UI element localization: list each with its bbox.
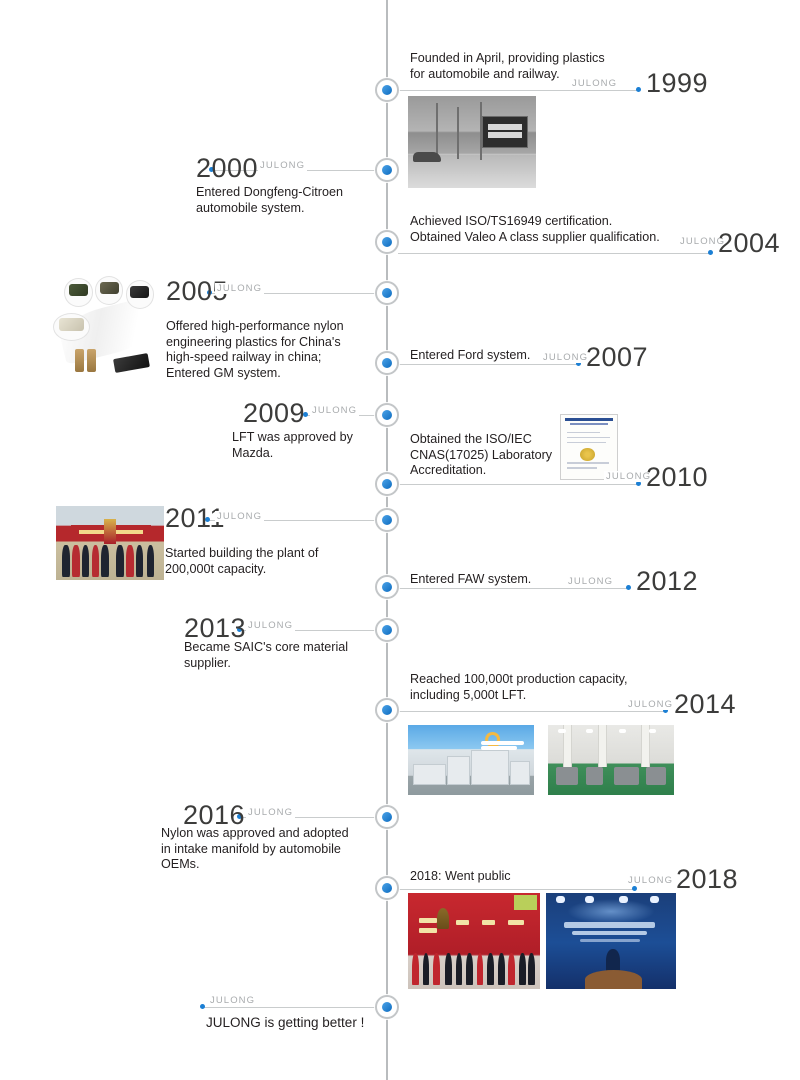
timeline-year-2007: 2007 [586,342,648,373]
timeline-node-2013[interactable] [375,618,399,642]
timeline-watermark-2018: JULONG [626,875,675,886]
photo-factory-campus [408,725,534,795]
timeline-year-2000: 2000 [196,153,258,184]
timeline-node-2018[interactable] [375,876,399,900]
timeline-rail-2004 [398,253,710,254]
timeline-text-2016: Nylon was approved and adopted in intake… [161,826,375,873]
timeline-rail-dot-2018 [632,886,637,891]
photo-online-roadshow [546,893,676,989]
timeline-watermark-2000: JULONG [258,160,307,171]
timeline-node-2007[interactable] [375,351,399,375]
timeline-rail-dot-closing [200,1004,205,1009]
timeline-rail-2010 [398,484,638,485]
timeline-year-2009: 2009 [243,398,305,429]
timeline-text-2011: Started building the plant of 200,000t c… [165,546,375,577]
timeline-watermark-2005: JULONG [215,283,264,294]
timeline-year-2012: 2012 [636,566,698,597]
timeline-node-2010[interactable] [375,472,399,496]
timeline-watermark-2009: JULONG [310,405,359,416]
timeline-text-closing: JULONG is getting better ! [206,1015,406,1031]
timeline-rail-dot-1999 [636,87,641,92]
timeline-year-2010: 2010 [646,462,708,493]
timeline-rail-2018 [398,889,634,890]
timeline-node-2011[interactable] [375,508,399,532]
photo-ipo-bell-ceremony [408,893,540,989]
timeline-watermark-closing: JULONG [208,995,257,1006]
timeline-watermark-2013: JULONG [246,620,295,631]
timeline-text-2004: Achieved ISO/TS16949 certification. Obta… [410,214,700,245]
timeline-rail-2014 [398,711,665,712]
timeline-rail-dot-2004 [708,250,713,255]
photo-production-workshop [548,725,674,795]
timeline-watermark-2014: JULONG [626,699,675,710]
photo-nylon-products-collage [53,276,163,378]
timeline-text-2010: Obtained the ISO/IEC CNAS(17025) Laborat… [410,432,560,479]
timeline-text-2000: Entered Dongfeng-Citroen automobile syst… [196,185,396,216]
timeline-rail-closing [203,1007,375,1008]
timeline-watermark-1999: JULONG [570,78,619,89]
photo-groundbreaking-ceremony [56,506,164,580]
timeline-watermark-2016: JULONG [246,807,295,818]
timeline-year-2014: 2014 [674,689,736,720]
timeline-text-2018: 2018: Went public [410,869,630,885]
timeline-node-2014[interactable] [375,698,399,722]
timeline-node-2000[interactable] [375,158,399,182]
timeline-text-2009: LFT was approved by Mazda. [232,430,392,461]
timeline-node-1999[interactable] [375,78,399,102]
timeline-watermark-2011: JULONG [215,511,264,522]
timeline-rail-1999 [398,90,638,91]
timeline-rail-2007 [398,364,578,365]
timeline-text-2005: Offered high-performance nylon engineeri… [166,319,381,381]
timeline-watermark-2012: JULONG [566,576,615,587]
timeline-node-2016[interactable] [375,805,399,829]
timeline-node-2009[interactable] [375,403,399,427]
timeline-text-1999: Founded in April, providing plastics for… [410,51,660,82]
timeline-year-1999: 1999 [646,68,708,99]
timeline-rail-dot-2012 [626,585,631,590]
timeline-node-2004[interactable] [375,230,399,254]
timeline-watermark-2007: JULONG [541,352,590,363]
timeline-node-2005[interactable] [375,281,399,305]
timeline-year-2018: 2018 [676,864,738,895]
photo-gate-signboard [408,96,536,188]
timeline-node-2012[interactable] [375,575,399,599]
timeline-text-2013: Became SAIC's core material supplier. [184,640,389,671]
timeline-year-2004: 2004 [718,228,780,259]
timeline-node-closing[interactable] [375,995,399,1019]
timeline-rail-2012 [398,588,628,589]
